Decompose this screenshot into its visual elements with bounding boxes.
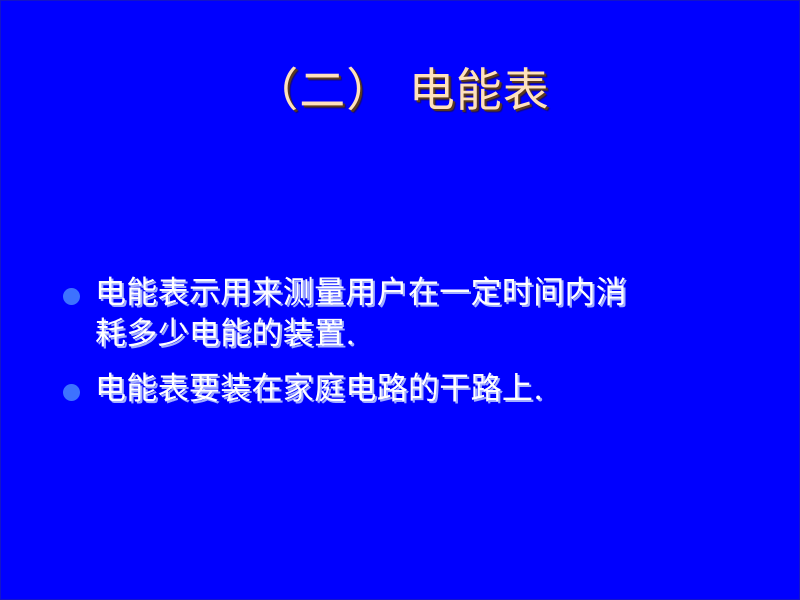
bullet-text-1-line-2: 耗多少电能的装置. [95,314,753,355]
bullet-text-1-line-1: 电能表示用来测量用户在一定时间内消 [95,273,753,314]
bullet-disc-icon [63,384,80,401]
bullet-text-2: 电能表要装在家庭电路的干路上. [95,369,753,410]
list-item: 电能表示用来测量用户在一定时间内消 耗多少电能的装置. [63,273,753,355]
bullet-text-2-line-1: 电能表要装在家庭电路的干路上. [95,369,753,410]
slide-title: （二） 电能表 [252,63,550,117]
bullet-disc-icon [63,288,80,305]
list-item: 电能表要装在家庭电路的干路上. [63,369,753,410]
slide-body-block: 电能表示用来测量用户在一定时间内消 耗多少电能的装置. 电能表要装在家庭电路的干… [63,273,753,411]
bullet-text-1: 电能表示用来测量用户在一定时间内消 耗多少电能的装置. [95,273,753,355]
slide-title-block: （二） 电能表 [1,63,800,117]
presentation-slide: （二） 电能表 电能表示用来测量用户在一定时间内消 耗多少电能的装置. 电能表要… [0,0,800,600]
